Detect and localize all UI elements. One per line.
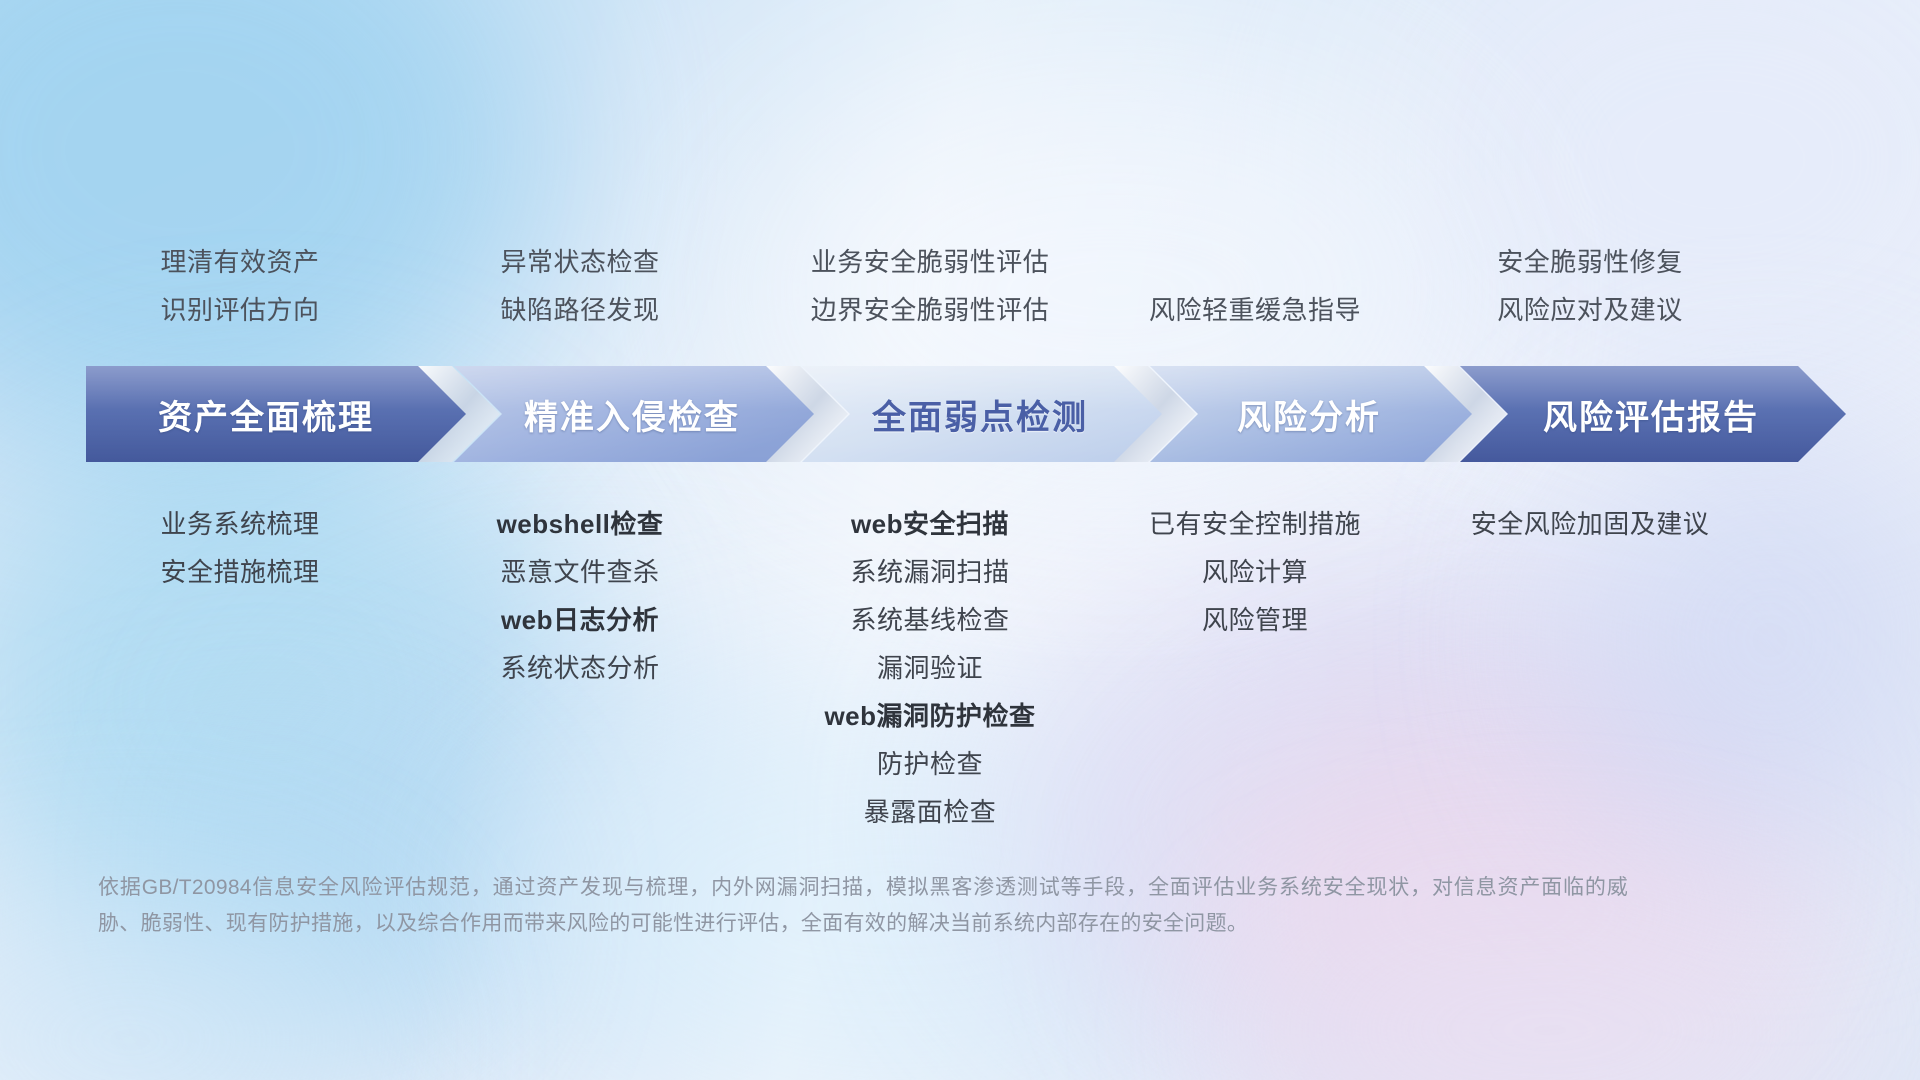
stage-top-label: 异常状态检查 xyxy=(390,238,770,286)
stage-4-top-labels: 风险轻重缓急指导 xyxy=(1075,286,1435,334)
stage-top-label: 理清有效资产 xyxy=(40,238,440,286)
stage-top-label: 边界安全脆弱性评估 xyxy=(730,286,1130,334)
stage-bottom-label: webshell检查 xyxy=(390,500,770,548)
stage-bottom-label: 系统状态分析 xyxy=(390,644,770,692)
stage-1-top-labels: 理清有效资产识别评估方向 xyxy=(40,238,440,334)
stage-2-bottom-labels: webshell检查恶意文件查杀web日志分析系统状态分析 xyxy=(390,500,770,692)
stage-bottom-label: 安全措施梳理 xyxy=(40,548,440,596)
process-flow-diagram: 理清有效资产识别评估方向 异常状态检查缺陷路径发现 业务安全脆弱性评估边界安全脆… xyxy=(0,0,1920,1080)
stage-bottom-label: web漏洞防护检查 xyxy=(730,692,1130,740)
stage-bottom-label: web安全扫描 xyxy=(730,500,1130,548)
stage-top-label: 缺陷路径发现 xyxy=(390,286,770,334)
stage-4-title[interactable]: 风险分析 xyxy=(1168,366,1450,462)
stage-bottom-label: 风险计算 xyxy=(1075,548,1435,596)
stage-bottom-label: 暴露面检查 xyxy=(730,788,1130,836)
stage-bottom-label: 漏洞验证 xyxy=(730,644,1130,692)
stage-bottom-label: 风险管理 xyxy=(1075,596,1435,644)
stage-bottom-label: 恶意文件查杀 xyxy=(390,548,770,596)
stage-top-label: 业务安全脆弱性评估 xyxy=(730,238,1130,286)
stage-2-top-labels: 异常状态检查缺陷路径发现 xyxy=(390,238,770,334)
stage-2-title[interactable]: 精准入侵检查 xyxy=(472,366,792,462)
stage-5-title[interactable]: 风险评估报告 xyxy=(1478,366,1824,462)
stage-bottom-label: 已有安全控制措施 xyxy=(1075,500,1435,548)
stage-4-bottom-labels: 已有安全控制措施风险计算风险管理 xyxy=(1075,500,1435,644)
stage-bottom-label: 业务系统梳理 xyxy=(40,500,440,548)
stage-3-top-labels: 业务安全脆弱性评估边界安全脆弱性评估 xyxy=(730,238,1130,334)
stage-top-label: 风险轻重缓急指导 xyxy=(1075,286,1435,334)
stage-bottom-label: 安全风险加固及建议 xyxy=(1390,500,1790,548)
stage-top-label: 安全脆弱性修复 xyxy=(1390,238,1790,286)
stage-bottom-label: web日志分析 xyxy=(390,596,770,644)
stage-top-label: 识别评估方向 xyxy=(40,286,440,334)
stage-1-bottom-labels: 业务系统梳理安全措施梳理 xyxy=(40,500,440,596)
stage-bottom-label: 防护检查 xyxy=(730,740,1130,788)
stage-1-title[interactable]: 资产全面梳理 xyxy=(86,366,446,462)
stage-chevron-banner: 资产全面梳理 精准入侵检查 全面弱点检测 风险分析 风险评估报告 xyxy=(86,366,1846,462)
footer-description: 依据GB/T20984信息安全风险评估规范，通过资产发现与梳理，内外网漏洞扫描，… xyxy=(98,870,1628,942)
stage-3-title[interactable]: 全面弱点检测 xyxy=(820,366,1140,462)
stage-5-bottom-labels: 安全风险加固及建议 xyxy=(1390,500,1790,548)
stage-top-label: 风险应对及建议 xyxy=(1390,286,1790,334)
stage-3-bottom-labels: web安全扫描系统漏洞扫描系统基线检查漏洞验证web漏洞防护检查防护检查暴露面检… xyxy=(730,500,1130,836)
stage-bottom-label: 系统漏洞扫描 xyxy=(730,548,1130,596)
stage-bottom-label: 系统基线检查 xyxy=(730,596,1130,644)
stage-5-top-labels: 安全脆弱性修复风险应对及建议 xyxy=(1390,238,1790,334)
